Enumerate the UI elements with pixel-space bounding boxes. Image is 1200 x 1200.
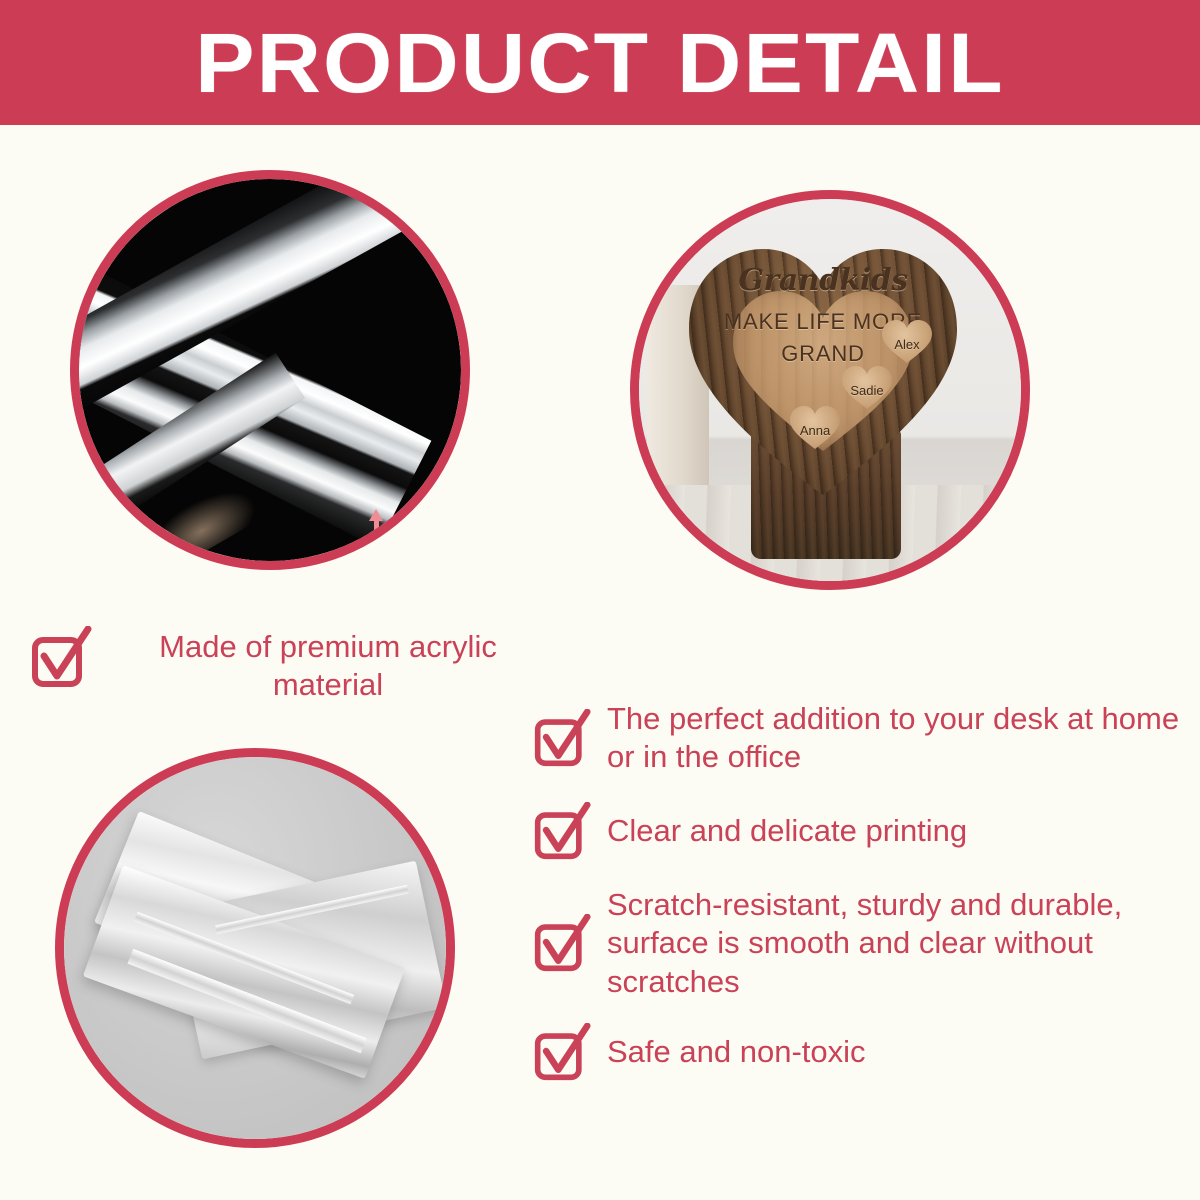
checkbox-checked-icon [533,709,591,767]
checkbox-checked-icon [533,802,591,860]
feature-safe-non-toxic: Safe and non-toxic [533,1023,1193,1081]
feature-scratch-resistant: Scratch-resistant, sturdy and durable, s… [533,886,1193,1000]
thickness-label: Thickness 0.55 in [393,519,461,561]
plaque-title-text: Grandkids [681,263,965,298]
feature-label: Scratch-resistant, sturdy and durable, s… [607,886,1193,1000]
feature-desk-addition: The perfect addition to your desk at hom… [533,700,1193,776]
sheets-photo-medallion [55,748,455,1148]
thickness-photo-medallion: Thickness 0.55 in [70,170,470,570]
thickness-callout: Thickness 0.55 in [367,509,461,561]
sheets-photo [64,757,446,1139]
feature-premium-acrylic: Made of premium acrylic material [30,626,550,704]
thickness-label-line2: 0.55 in [393,553,461,561]
page-title: PRODUCT DETAIL [195,21,1005,105]
plaque-heart-body: Grandkids MAKE LIFE MORE GRAND Alex Sadi… [681,237,965,499]
name-heart-label: Alex [894,337,919,352]
plaque-photo: Grandkids MAKE LIFE MORE GRAND Alex Sadi… [639,199,1021,581]
checkbox-checked-icon [30,626,92,688]
feature-label: The perfect addition to your desk at hom… [607,700,1193,776]
name-heart-label: Sadie [850,383,883,398]
thickness-label-line1: Thickness [393,519,461,553]
header-banner: PRODUCT DETAIL [0,0,1200,125]
thickness-photo: Thickness 0.55 in [79,179,461,561]
feature-list: The perfect addition to your desk at hom… [533,700,1193,1107]
double-arrow-vertical-icon [367,509,385,561]
checkbox-checked-icon [533,914,591,972]
feature-clear-printing: Clear and delicate printing [533,802,1193,860]
feature-label: Made of premium acrylic material [106,626,550,704]
plaque-photo-medallion: Grandkids MAKE LIFE MORE GRAND Alex Sadi… [630,190,1030,590]
feature-label: Safe and non-toxic [607,1033,866,1071]
feature-label: Clear and delicate printing [607,812,967,850]
heart-plaque: Grandkids MAKE LIFE MORE GRAND Alex Sadi… [673,229,973,559]
checkbox-checked-icon [533,1023,591,1081]
name-heart-label: Anna [800,423,830,438]
